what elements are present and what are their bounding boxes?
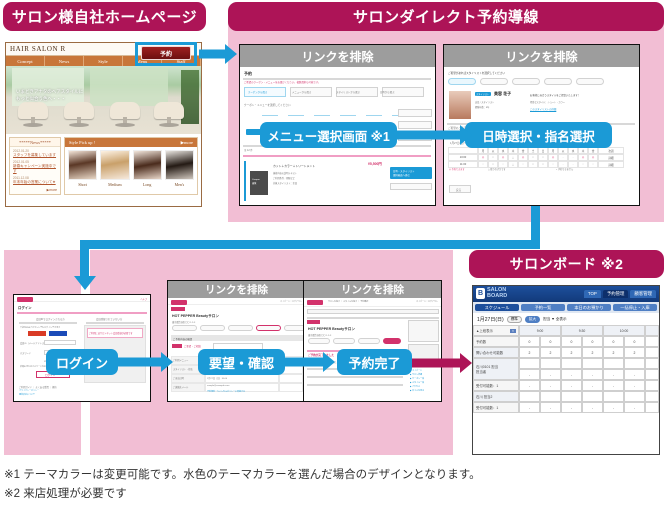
- view-chip-standard[interactable]: 標準: [507, 316, 522, 323]
- side-link[interactable]: ▶ 口コミを見る: [410, 389, 424, 392]
- salonboard-tabs: TOP 予約管理 顧客管理: [584, 290, 656, 298]
- table-row-price: [279, 374, 303, 383]
- cal-day: 木: [578, 147, 588, 154]
- grid-slot[interactable]: -: [582, 369, 603, 380]
- step-row: [172, 325, 305, 331]
- hero-chair-2: [64, 102, 94, 128]
- connector-segment-vertical-left: [80, 240, 89, 278]
- login-id-label: 会員ID（メールアドレス）: [20, 341, 46, 345]
- step-menu[interactable]: [172, 325, 197, 331]
- section-band-title: ご予約内容の確認: [173, 337, 192, 341]
- subtab-schedule[interactable]: スケジュール: [475, 304, 519, 311]
- grid-slot[interactable]: -: [603, 402, 624, 413]
- request-confirm-screenshot: リンクを排除 マイページ｜ログアウト HOT PEPPER Beautyサロン …: [167, 280, 306, 402]
- grid-slot[interactable]: -: [519, 402, 540, 413]
- grid-count-cell[interactable]: 0: [561, 336, 582, 347]
- homepage-hero-image: いまどきアナタのヘアスタイルに もっと似合う色へ・・・: [6, 66, 201, 134]
- cal-slot[interactable]: ○: [588, 161, 598, 168]
- guest-notice-text: ご利用にはサロンネット会員登録が必要です: [89, 331, 133, 335]
- cal-row-more[interactable]: 詳細: [598, 161, 624, 168]
- salonboard-tab-reservation[interactable]: 予約管理: [603, 290, 629, 298]
- side-link[interactable]: ▶ スタイル一覧: [410, 381, 424, 384]
- coupon-desc: 対象スタイリスト：全員: [273, 181, 297, 185]
- grid-slot[interactable]: -: [624, 369, 645, 380]
- grid-slot[interactable]: -: [519, 369, 540, 380]
- coupon-desc: 施術内容の説明テキスト: [273, 171, 297, 175]
- grid-slot[interactable]: [540, 358, 561, 369]
- news-item[interactable]: 2012.01.05 新春キャンペーン実施中です: [13, 160, 57, 174]
- callout-reservation-done: 予約完了: [337, 349, 412, 375]
- subtab-today-deposit[interactable]: 本日のお預かり: [567, 304, 611, 311]
- callout-datetime-stylist: 日時選択・指名選択: [465, 122, 612, 148]
- grid-slot[interactable]: -: [603, 369, 624, 380]
- request-label: ご要望・ご相談: [184, 344, 201, 348]
- grid-row-spacer: [645, 380, 659, 391]
- stylist-tab-row: [448, 78, 604, 85]
- book-button[interactable]: 予約: [141, 46, 191, 60]
- cal-slot[interactable]: ×: [538, 161, 548, 168]
- table-label-menu: ご利用メニュー: [173, 358, 188, 362]
- login-screenshot: ヘルプ ログイン 会員IDでログインされる方 会員登録されていない方 下記のSN…: [13, 294, 151, 402]
- grid-slot[interactable]: [561, 358, 582, 369]
- style-cell[interactable]: Medium: [100, 150, 129, 187]
- style-more-link[interactable]: ▶more: [181, 140, 193, 146]
- callout-login: ログイン: [46, 349, 118, 375]
- cal-slot[interactable]: △: [508, 154, 518, 161]
- grid-slot[interactable]: [519, 358, 540, 369]
- cal-slot[interactable]: ◎: [518, 154, 528, 161]
- table-value-contact: sample@example.com: [207, 385, 229, 387]
- footer-note-2: ※2 来店処理が必要です: [4, 485, 660, 504]
- table-value-datetime: 1月27日（日）10:00: [207, 376, 227, 380]
- grid-close-icon[interactable]: ×: [510, 329, 516, 333]
- salon-sub: 東京都渋谷区〇〇 1-2-3: [172, 320, 195, 324]
- style-photo: [165, 150, 194, 180]
- grid-staff-sub: 受付可能数：1: [473, 380, 519, 391]
- arrow-login-to-confirm: [115, 352, 173, 372]
- grid-row-label[interactable]: 問い合わせ可能数: [473, 347, 519, 358]
- grid-time-header: 10:00: [603, 325, 645, 336]
- back-button-label: 戻る: [456, 188, 461, 192]
- step-badge: [171, 307, 185, 311]
- grid-count-cell[interactable]: 2: [561, 347, 582, 358]
- cal-slot[interactable]: ○: [478, 161, 488, 168]
- cal-day: 火: [558, 147, 568, 154]
- side-box-1: [398, 109, 432, 117]
- cal-slot[interactable]: △: [508, 161, 518, 168]
- style-photo: [133, 150, 162, 180]
- grid-count-cell[interactable]: 2: [624, 347, 645, 358]
- tab-menu-label: メニューから選ぶ: [292, 90, 311, 94]
- grid-slot[interactable]: -: [561, 369, 582, 380]
- cal-slot[interactable]: ×: [528, 161, 538, 168]
- grid-count-cell[interactable]: 2: [603, 347, 624, 358]
- login-header-bar: [14, 295, 150, 302]
- cal-slot[interactable]: ○: [518, 161, 528, 168]
- cal-slot[interactable]: ◎: [578, 154, 588, 161]
- grid-slot[interactable]: -: [603, 380, 624, 391]
- tab-coupon-label: クーポンから選ぶ: [248, 90, 267, 94]
- salon-homepage-screenshot: HAIR SALON R Concept News Style Menu Sta…: [5, 42, 202, 207]
- grid-row-spacer: [645, 336, 659, 347]
- side-link[interactable]: ▶ アクセス: [410, 385, 420, 388]
- footer-notes: ※1 テーマカラーは変更可能です。水色のテーマカラーを選んだ場合のデザインとなり…: [4, 466, 660, 504]
- grid-staff-label[interactable]: 石川 担当2: [473, 391, 519, 402]
- grid-count-cell[interactable]: 2: [582, 347, 603, 358]
- tab-conditions[interactable]: [576, 78, 604, 85]
- grid-count-cell[interactable]: 2: [519, 347, 540, 358]
- salon-name: HOT PEPPER Beautyサロン: [308, 327, 355, 332]
- reservation-done-screenshot: リンクを排除 サロンを探す ｜ スタイルを探す ｜ 予約確認 マイページ｜ログア…: [303, 280, 442, 402]
- grid-slot[interactable]: [624, 391, 645, 402]
- news-link[interactable]: 年末年始の営業について★: [13, 180, 57, 185]
- coupon-price: ¥5,500円: [368, 161, 382, 166]
- grid-count-cell[interactable]: 0: [582, 336, 603, 347]
- step-datetime[interactable]: [200, 325, 225, 331]
- style-caption: Medium: [100, 182, 129, 187]
- callout-menu-select: メニュー選択画面 ※1: [260, 122, 397, 148]
- subtab-reservation-list[interactable]: 予約一覧: [521, 304, 565, 311]
- salon-board-screenshot: B SALON BOARD TOP 予約管理 顧客管理 スケジュール 予約一覧 …: [472, 285, 660, 455]
- grid-slot[interactable]: [624, 358, 645, 369]
- grid-slot[interactable]: [603, 391, 624, 402]
- hero-chair-4: [154, 102, 184, 128]
- cal-day: 水: [498, 147, 508, 154]
- side-link[interactable]: ▶ サロン詳細: [410, 373, 422, 376]
- cal-more[interactable]: 次週: [598, 147, 624, 154]
- cal-day: 土: [528, 147, 538, 154]
- footer-note-1: ※1 テーマカラーは変更可能です。水色のテーマカラーを選んだ場合のデザインとなり…: [4, 466, 660, 485]
- step-info[interactable]: [358, 338, 380, 344]
- login-pw-label: パスワード: [20, 351, 31, 355]
- grid-slot[interactable]: -: [540, 402, 561, 413]
- style-caption: Men's: [165, 182, 194, 187]
- cal-day: 水: [568, 147, 578, 154]
- stylist-badge-label: スタイリスト: [476, 92, 489, 96]
- style-cell[interactable]: Men's: [165, 150, 194, 187]
- cal-slot[interactable]: -: [568, 154, 578, 161]
- heading-own-homepage: サロン様自社ホームページ: [3, 2, 206, 31]
- cal-day: 火: [488, 147, 498, 154]
- hero-window-right: [90, 68, 168, 106]
- side-link[interactable]: ▶ クーポン一覧: [410, 377, 424, 380]
- panel-header-exclude-link: リンクを排除: [240, 45, 435, 67]
- view-chip-expanded[interactable]: 拡大: [525, 316, 540, 323]
- arrow-done-to-salonboard: [410, 353, 472, 373]
- hotpepper-logo: [171, 300, 187, 305]
- reservation-title: 予約: [244, 71, 252, 77]
- connector-arrowhead-down: [74, 276, 96, 290]
- tab-stylist-label: スタイリストから選ぶ: [336, 90, 360, 94]
- stylist-desc: お客様に似合うスタイルをご提案いたします！: [530, 93, 580, 97]
- tab-seat-only[interactable]: [544, 78, 572, 85]
- next-step-button-label: 日時・スタイリスト 選択画面へ進む: [393, 169, 415, 177]
- homepage-news-block: *****News***** 2012.01.20 スタッフを募集しています 2…: [9, 137, 61, 195]
- step-confirm[interactable]: [383, 338, 401, 344]
- grid-slot[interactable]: -: [561, 380, 582, 391]
- grid-slot[interactable]: -: [624, 380, 645, 391]
- cal-slot[interactable]: ×: [488, 154, 498, 161]
- salonboard-tab-customer[interactable]: 顧客管理: [630, 290, 656, 298]
- homepage-nav-item-style[interactable]: Style: [84, 56, 123, 66]
- step-done[interactable]: [284, 325, 305, 331]
- sns-login-note: 下記のSNSアカウントでもログインできます: [20, 326, 60, 329]
- stylist-years: 経験年数：8年: [475, 105, 489, 109]
- salonboard-date-row: 1月27日(日) 標準 拡大 担当 ▼ 全表示: [473, 313, 659, 325]
- arrow-confirm-to-done: [283, 352, 335, 372]
- stylist-desc-2: 得意なスタイル：ショート・カラー: [530, 100, 565, 104]
- news-item[interactable]: 2012.01.20 スタッフを募集しています: [13, 149, 57, 158]
- sns-button-yahoo[interactable]: [49, 331, 67, 336]
- grid-count-cell[interactable]: 0: [624, 336, 645, 347]
- cal-slot[interactable]: ○: [578, 161, 588, 168]
- style-photo: [100, 150, 129, 180]
- grid-slot[interactable]: [582, 391, 603, 402]
- news-item[interactable]: 2011.12.08 年末年始の営業について★: [13, 176, 57, 185]
- grid-count-cell[interactable]: 0: [603, 336, 624, 347]
- hotpepper-logo: [17, 297, 33, 302]
- step-info[interactable]: [228, 325, 253, 331]
- salon-name: HOT PEPPER Beautyサロン: [172, 314, 219, 319]
- homepage-site-title: HAIR SALON R: [10, 45, 66, 53]
- homepage-nav-item-news[interactable]: News: [45, 56, 84, 66]
- news-link[interactable]: 新春キャンペーン実施中です: [13, 164, 57, 174]
- grid-time-header: 9:00: [519, 325, 561, 336]
- header-right-link[interactable]: マイページ｜ログアウト: [416, 300, 438, 303]
- grid-row-spacer: [645, 391, 659, 402]
- global-nav[interactable]: サロンを探す ｜ スタイルを探す ｜ 予約確認: [328, 300, 368, 303]
- cal-slot[interactable]: ◎: [478, 154, 488, 161]
- coupon-thumb-label: Coupon 画像: [252, 179, 260, 185]
- legend-few: △ 残りわずかです: [488, 167, 506, 171]
- stylist-role: 店長 / スタイリスト: [475, 100, 494, 104]
- step-datetime[interactable]: [333, 338, 355, 344]
- header-right-link[interactable]: ヘルプ: [140, 297, 147, 301]
- cal-slot[interactable]: ×: [538, 154, 548, 161]
- coupon-desc: ご利用条件／期限など: [273, 176, 295, 180]
- step-confirm[interactable]: [256, 325, 281, 331]
- login-page-title: ログイン: [18, 305, 32, 310]
- style-cell[interactable]: Long: [133, 150, 162, 187]
- news-more-link[interactable]: ▶more: [47, 188, 57, 192]
- agreement-link[interactable]: 予約規約・キャンセルポリシーに同意する: [207, 390, 245, 393]
- arrow-homepage-to-reservation: [199, 44, 237, 64]
- homepage-style-block: Style Pick up ! ▶more Short Medium Long: [64, 137, 198, 195]
- hotpepper-logo: [307, 300, 323, 305]
- connector-segment-horizontal: [80, 240, 540, 249]
- diagram-root: サロン様自社ホームページ サロンダイレクト予約導線 サロンボード ※2 HAIR…: [0, 0, 664, 509]
- style-thumb-grid: Short Medium Long Men's: [65, 147, 197, 190]
- secondary-button[interactable]: [390, 183, 432, 190]
- grid-corner-label: ▲上段表示: [476, 328, 493, 333]
- grid-slot[interactable]: [540, 391, 561, 402]
- grid-header-spacer: [645, 325, 659, 336]
- grid-slot[interactable]: -: [624, 402, 645, 413]
- sns-button-facebook[interactable]: [28, 331, 46, 336]
- cal-slot[interactable]: ◎: [588, 154, 598, 161]
- grid-row-label-text: 問い合わせ可能数: [476, 350, 503, 355]
- grid-row-spacer: [645, 347, 659, 358]
- grid-count-cell[interactable]: 2: [540, 347, 561, 358]
- filter-chip[interactable]: [262, 112, 278, 116]
- table-row-price: [279, 383, 303, 392]
- panel-header-exclude-link: リンクを排除: [444, 45, 639, 67]
- filter-chip[interactable]: [314, 112, 330, 116]
- reservation-lead: ご希望のクーポン・メニューをお選びください。複数選択も可能です。: [244, 80, 320, 84]
- callout-request-confirm: 要望・確認: [198, 349, 285, 375]
- style-header-bar: Style Pick up ! ▶more: [65, 138, 197, 147]
- news-link[interactable]: スタッフを募集しています: [13, 153, 57, 158]
- stylist-photo: [449, 91, 471, 119]
- grid-slot[interactable]: -: [519, 380, 540, 391]
- style-cell[interactable]: Short: [68, 150, 97, 187]
- tab-no-nomination[interactable]: [448, 78, 476, 85]
- grid-slot[interactable]: -: [582, 402, 603, 413]
- cal-day: 木: [508, 147, 518, 154]
- grid-corner[interactable]: ▲上段表示 ×: [473, 325, 519, 336]
- side-panel: [408, 320, 439, 342]
- table-label-contact: ご連絡先メール: [173, 385, 188, 389]
- style-photo: [68, 150, 97, 180]
- salonboard-staff-filter[interactable]: 担当 ▼ 全表示: [543, 317, 567, 322]
- subtab-bulk-stop[interactable]: 一括停止・入庫: [613, 304, 657, 311]
- filter-chip[interactable]: [366, 112, 382, 116]
- sub-nav-row: [307, 309, 439, 314]
- connector-to-login-flow: [80, 206, 540, 290]
- grid-slot[interactable]: -: [561, 402, 582, 413]
- stylist-lead: ご希望があればスタイリストを選択してください: [448, 71, 505, 75]
- cal-corner: [448, 147, 478, 154]
- hero-chair-3: [110, 102, 140, 128]
- grid-row-label: 予約数: [473, 336, 519, 347]
- grid-count-cell[interactable]: 0: [540, 336, 561, 347]
- login-col-right-title: 会員登録されていない方: [96, 317, 122, 321]
- stylist-name: 美容 花子: [494, 91, 511, 97]
- cal-day: 月: [478, 147, 488, 154]
- filter-chip[interactable]: [340, 112, 356, 116]
- grid-slot[interactable]: -: [582, 380, 603, 391]
- hero-catchcopy: いまどきアナタのヘアスタイルに もっと似合う色へ・・・: [16, 88, 83, 102]
- grid-slot[interactable]: -: [540, 369, 561, 380]
- cal-row-more[interactable]: 詳細: [598, 154, 624, 161]
- grid-staff-sub: 受付可能数：1: [473, 402, 519, 413]
- grid-slot[interactable]: [519, 391, 540, 402]
- login-id-input[interactable]: [44, 340, 76, 345]
- arrow-menu-to-datetime: [394, 125, 472, 145]
- grid-slot[interactable]: [603, 358, 624, 369]
- required-badge: [172, 344, 182, 348]
- login-body: ヘルプ ログイン 会員IDでログインされる方 会員登録されていない方 下記のSN…: [14, 295, 150, 401]
- cal-slot[interactable]: ×: [528, 154, 538, 161]
- salonboard-tab-top[interactable]: TOP: [584, 290, 601, 298]
- homepage-nav-item-concept[interactable]: Concept: [6, 56, 45, 66]
- cal-slot[interactable]: ◎: [548, 154, 558, 161]
- brand-line-2: BOARD: [487, 294, 507, 300]
- coupon-title: カット＋カラー＋トリートメント: [273, 164, 315, 168]
- step-row: [308, 338, 401, 344]
- grid-count-cell[interactable]: 0: [519, 336, 540, 347]
- done-badge: [307, 320, 320, 324]
- heading-salon-direct: サロンダイレクト予約導線: [228, 2, 664, 31]
- filter-chip[interactable]: [288, 112, 304, 116]
- grid-slot[interactable]: [561, 391, 582, 402]
- result-count: 全 12 件: [244, 148, 253, 152]
- footer-link[interactable]: 運営会社について: [19, 393, 35, 396]
- cal-day: 日: [538, 147, 548, 154]
- style-caption: Short: [68, 182, 97, 187]
- grid-slot[interactable]: [582, 358, 603, 369]
- grid-row-spacer: [645, 402, 659, 413]
- news-header: *****News*****: [10, 138, 60, 147]
- salon-sub: 東京都渋谷区〇〇 1-2-3: [308, 333, 331, 337]
- cal-day: 月: [548, 147, 558, 154]
- salonboard-schedule-grid[interactable]: ▲上段表示 × 9:00 9:30 10:00 予約数 0 0 0 0 0 0 …: [473, 325, 659, 413]
- tab-datetime-label: 日時から選ぶ: [380, 90, 394, 94]
- tab-staff-list[interactable]: [512, 78, 540, 85]
- hero-chair-1: [18, 102, 48, 128]
- tab-nominate[interactable]: [480, 78, 508, 85]
- homepage-lower-section: *****News***** 2012.01.20 スタッフを募集しています 2…: [6, 134, 201, 198]
- table-label-datetime: ご来店日時: [173, 376, 184, 380]
- availability-calendar[interactable]: 月 火 水 木 金 土 日 月 火 水 木 金 次週 10:00 ◎ × ◎: [448, 147, 634, 168]
- sub-lead: クーポン・メニューを選択してください: [244, 103, 291, 107]
- legend-unavailable: × 予約できません: [556, 167, 573, 171]
- cal-timeslot-label: 10:00: [448, 154, 478, 161]
- style-caption: Long: [133, 182, 162, 187]
- legend-available: ◎ 予約できます: [449, 167, 465, 171]
- grid-row-spacer: [645, 358, 659, 369]
- salonboard-subtabs: スケジュール 予約一覧 本日のお預かり 一括停止・入庫: [473, 302, 659, 313]
- filter-row: [262, 112, 408, 116]
- cal-day: 金: [588, 147, 598, 154]
- style-header-title: Style Pick up !: [69, 140, 95, 145]
- grid-time-header: 9:30: [561, 325, 603, 336]
- step-menu[interactable]: [308, 338, 330, 344]
- grid-staff-label[interactable]: 石川0101 担当 担当者: [473, 358, 519, 380]
- stylist-detail-link[interactable]: このスタイリストの詳細: [530, 107, 556, 111]
- grid-slot[interactable]: -: [540, 380, 561, 391]
- cal-day: 金: [518, 147, 528, 154]
- header-right-link[interactable]: マイページ｜ログアウト: [280, 300, 302, 303]
- login-col-left-title: 会員IDでログインされる方: [36, 317, 65, 321]
- cal-slot[interactable]: -: [558, 154, 568, 161]
- cal-slot[interactable]: ◎: [498, 154, 508, 161]
- salonboard-date: 1月27日(日): [477, 316, 504, 323]
- table-label-stylist: スタイリスト・指名: [173, 367, 193, 371]
- reservation-tab-row: [244, 87, 424, 97]
- grid-row-spacer: [645, 369, 659, 380]
